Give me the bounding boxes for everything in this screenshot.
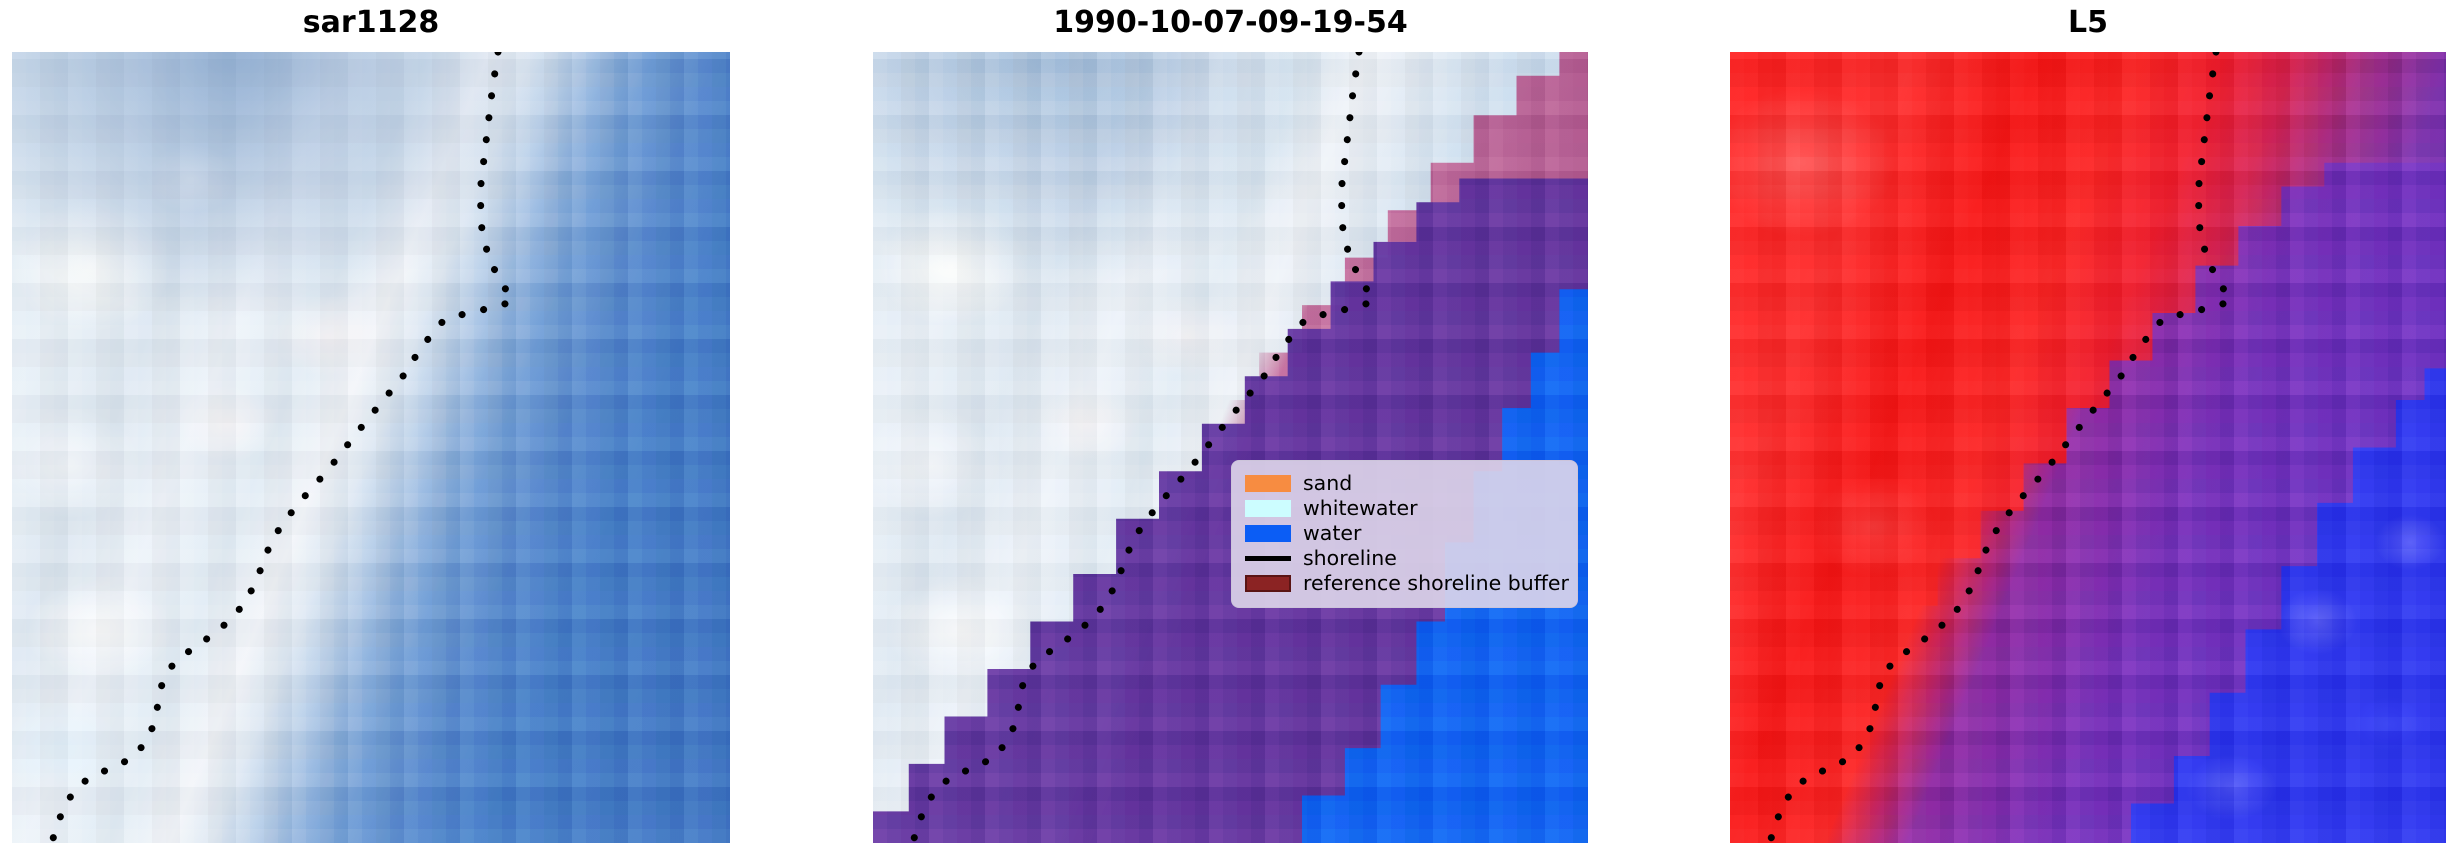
- legend-label-whitewater: whitewater: [1303, 498, 1418, 519]
- legend-swatch-whitewater: [1245, 500, 1291, 517]
- shoreline-dotted-line: [1760, 52, 2230, 843]
- image-panel-classified-overlay[interactable]: [873, 52, 1588, 843]
- shoreline-overlay-panel-2: [1730, 52, 2446, 843]
- panel-title-0: sar1128: [12, 5, 730, 40]
- legend-swatch-shoreline: [1245, 556, 1291, 561]
- legend-item-water: water: [1245, 521, 1564, 546]
- shoreline-overlay-panel-1: [873, 52, 1588, 843]
- panel-title-2: L5: [1730, 5, 2446, 40]
- legend-swatch-reference-shoreline-buffer: [1245, 575, 1291, 592]
- figure-canvas: sar1128 1990-10-07-09-19-54 L5: [0, 0, 2460, 859]
- image-panel-false-colour-index[interactable]: [1730, 52, 2446, 843]
- legend-swatch-sand: [1245, 475, 1291, 492]
- image-panel-rgb-composite[interactable]: [12, 52, 730, 843]
- legend-swatch-water: [1245, 525, 1291, 542]
- legend-label-reference-shoreline-buffer: reference shoreline buffer: [1303, 573, 1569, 594]
- shoreline-dotted-line: [903, 52, 1373, 843]
- panel-title-1: 1990-10-07-09-19-54: [873, 5, 1588, 40]
- legend-item-reference-shoreline-buffer: reference shoreline buffer: [1245, 571, 1564, 596]
- legend-label-water: water: [1303, 523, 1361, 544]
- legend-item-sand: sand: [1245, 471, 1564, 496]
- legend-item-whitewater: whitewater: [1245, 496, 1564, 521]
- legend-item-shoreline: shoreline: [1245, 546, 1564, 571]
- shoreline-dotted-line: [42, 52, 512, 843]
- legend-label-shoreline: shoreline: [1303, 548, 1397, 569]
- shoreline-overlay-panel-0: [12, 52, 730, 843]
- legend-box[interactable]: sand whitewater water shoreline referenc…: [1231, 460, 1578, 608]
- legend-label-sand: sand: [1303, 473, 1352, 494]
